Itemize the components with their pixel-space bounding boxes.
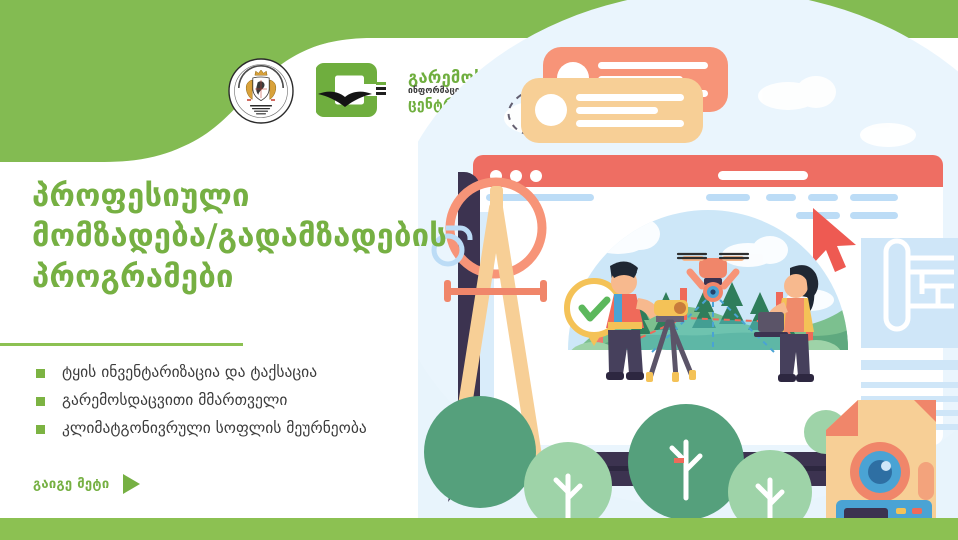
list-item: კლიმატგონივრული სოფლის მეურნეობა [36,418,466,439]
page-title-line1: პროფესიული [32,176,452,216]
program-list: ტყის ინვენტარიზაცია და ტაქსაცია გარემოსდ… [36,362,466,446]
bullet-square-icon [36,425,45,434]
play-triangle-icon[interactable] [123,474,140,494]
list-item-label: გარემოსდაცვითი მმართველი [62,390,287,411]
notification-card-yellow [521,78,703,143]
bullet-square-icon [36,369,45,378]
eiec-logo-mark-icon [316,61,388,121]
list-item: გარემოსდაცვითი მმართველი [36,390,466,411]
page-title: პროფესიული მომზადება/გადამზადების პროგრა… [32,176,452,297]
bullet-square-icon [36,397,45,406]
list-item-label: კლიმატგონივრული სოფლის მეურნეობა [62,418,367,439]
page-title-line2: მომზადება/გადამზადების [32,216,452,256]
list-item: ტყის ინვენტარიზაცია და ტაქსაცია [36,362,466,383]
georgia-state-emblem-icon [228,58,294,124]
slide-root: გარემოსდაცვითი ინფორმაციისა და განათლები… [0,0,958,540]
footer-green-bar [0,518,958,540]
learn-more-button[interactable]: გაიგე მეტი [33,474,140,494]
learn-more-label: გაიგე მეტი [33,477,109,492]
list-item-label: ტყის ინვენტარიზაცია და ტაქსაცია [62,362,317,383]
illustration-panel [418,0,958,540]
title-divider [0,343,243,346]
page-title-line3: პროგრამები [32,257,452,297]
